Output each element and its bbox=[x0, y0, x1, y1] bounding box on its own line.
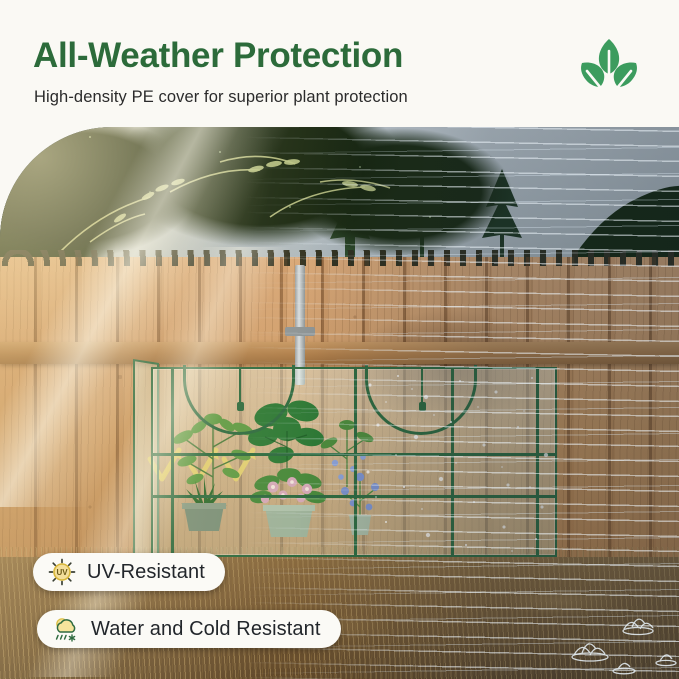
mini-greenhouse bbox=[151, 367, 557, 557]
greenhouse-mullion-1 bbox=[171, 367, 174, 557]
feature-badge-label: UV-Resistant bbox=[87, 561, 205, 584]
greenhouse-zipper-left bbox=[239, 369, 241, 405]
page-title: All-Weather Protection bbox=[33, 36, 403, 76]
cover-water-droplets-fine bbox=[356, 367, 557, 557]
plant-succulent-pot bbox=[173, 475, 235, 533]
cloud-rain-snow-icon bbox=[51, 614, 81, 644]
feature-badge-uv-resistant[interactable]: UV UV-Resistant bbox=[33, 553, 225, 591]
downspout-bracket bbox=[285, 327, 315, 336]
plant-pink-flowers-pot bbox=[247, 465, 331, 539]
fence-horizontal-rail bbox=[0, 342, 679, 364]
product-photo bbox=[0, 127, 679, 679]
header-banner: All-Weather Protection High-density PE c… bbox=[0, 0, 679, 127]
three-leaf-logo bbox=[577, 37, 641, 95]
sun-uv-icon: UV bbox=[47, 557, 77, 587]
page-subtitle: High-density PE cover for superior plant… bbox=[34, 88, 408, 107]
feature-badge-water-cold-resistant[interactable]: Water and Cold Resistant bbox=[37, 610, 341, 648]
feature-badge-label: Water and Cold Resistant bbox=[91, 618, 321, 641]
svg-text:UV: UV bbox=[56, 568, 68, 577]
